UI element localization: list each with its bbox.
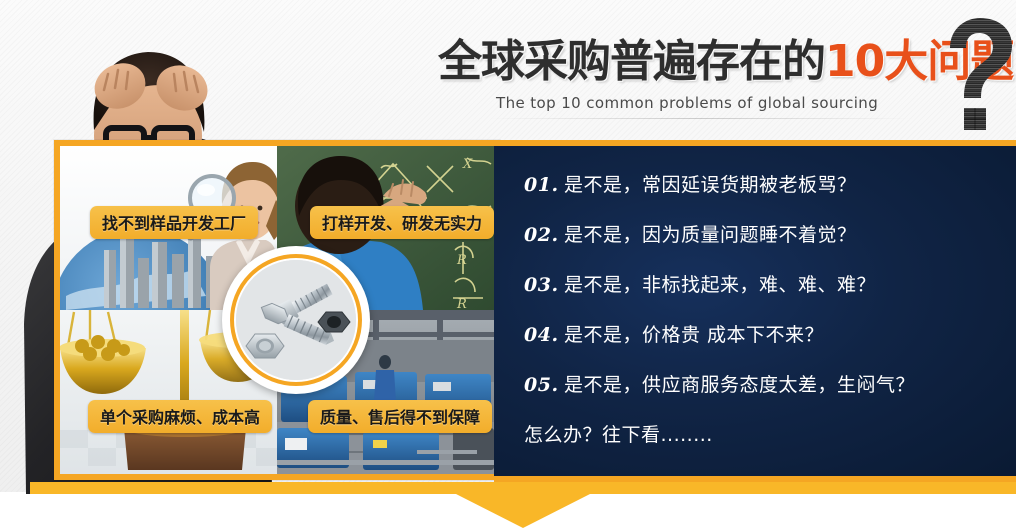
problem-text: 是不是，常因延误货期被老板骂？	[564, 170, 857, 197]
problem-number: 05.	[524, 374, 564, 396]
collage-caption-top-right: 打样开发、研发无实力	[310, 206, 494, 239]
problem-number: 04.	[524, 324, 564, 346]
problems-panel: 01. 是不是，常因延误货期被老板骂？ 02. 是不是，因为质量问题睡不着觉？ …	[494, 146, 1016, 476]
problem-item-05: 05. 是不是，供应商服务态度太差，生闷气？	[524, 370, 994, 397]
problem-text: 是不是，非标找起来，难、难、难？	[564, 270, 876, 297]
problem-text: 是不是，供应商服务态度太差，生闷气？	[564, 370, 915, 397]
problem-item-01: 01. 是不是，常因延误货期被老板骂？	[524, 170, 994, 197]
problem-item-02: 02. 是不是，因为质量问题睡不着觉？	[524, 220, 994, 247]
problem-number: 03.	[524, 274, 564, 296]
page-title: 全球采购普遍存在的10大问题	[438, 36, 1013, 88]
svg-text:R: R	[456, 253, 467, 268]
svg-text:X: X	[462, 157, 473, 172]
question-mark-icon	[940, 16, 1016, 134]
collage-caption-top-left: 找不到样品开发工厂	[90, 206, 258, 239]
problem-number: 01.	[524, 174, 564, 196]
problem-item-03: 03. 是不是，非标找起来，难、难、难？	[524, 270, 994, 297]
subtitle-divider	[490, 118, 910, 119]
header-block: 全球采购普遍存在的10大问题 The top 10 common problem…	[430, 36, 1016, 136]
poster-root: 全球采购普遍存在的10大问题 The top 10 common problem…	[0, 0, 1016, 531]
problem-text: 是不是，价格贵 成本下不来？	[564, 320, 824, 347]
page-subtitle: The top 10 common problems of global sou…	[496, 94, 878, 112]
svg-text:R: R	[456, 297, 467, 310]
problems-footer-text: 怎么办？往下看........	[524, 420, 994, 447]
problems-list: 01. 是不是，常因延误货期被老板骂？ 02. 是不是，因为质量问题睡不着觉？ …	[524, 170, 994, 447]
problem-item-04: 04. 是不是，价格贵 成本下不来？	[524, 320, 994, 347]
problem-text: 是不是，因为质量问题睡不着觉？	[564, 220, 857, 247]
collage-caption-bottom-left: 单个采购麻烦、成本高	[88, 400, 272, 433]
title-main-text: 全球采购普遍存在的	[438, 36, 825, 88]
problem-number: 02.	[524, 224, 564, 246]
bottom-arrow-banner	[30, 482, 1016, 528]
bolts-badge	[222, 246, 370, 394]
bolts-and-nuts-image	[236, 260, 356, 380]
collage-caption-bottom-right: 质量、售后得不到保障	[308, 400, 492, 433]
